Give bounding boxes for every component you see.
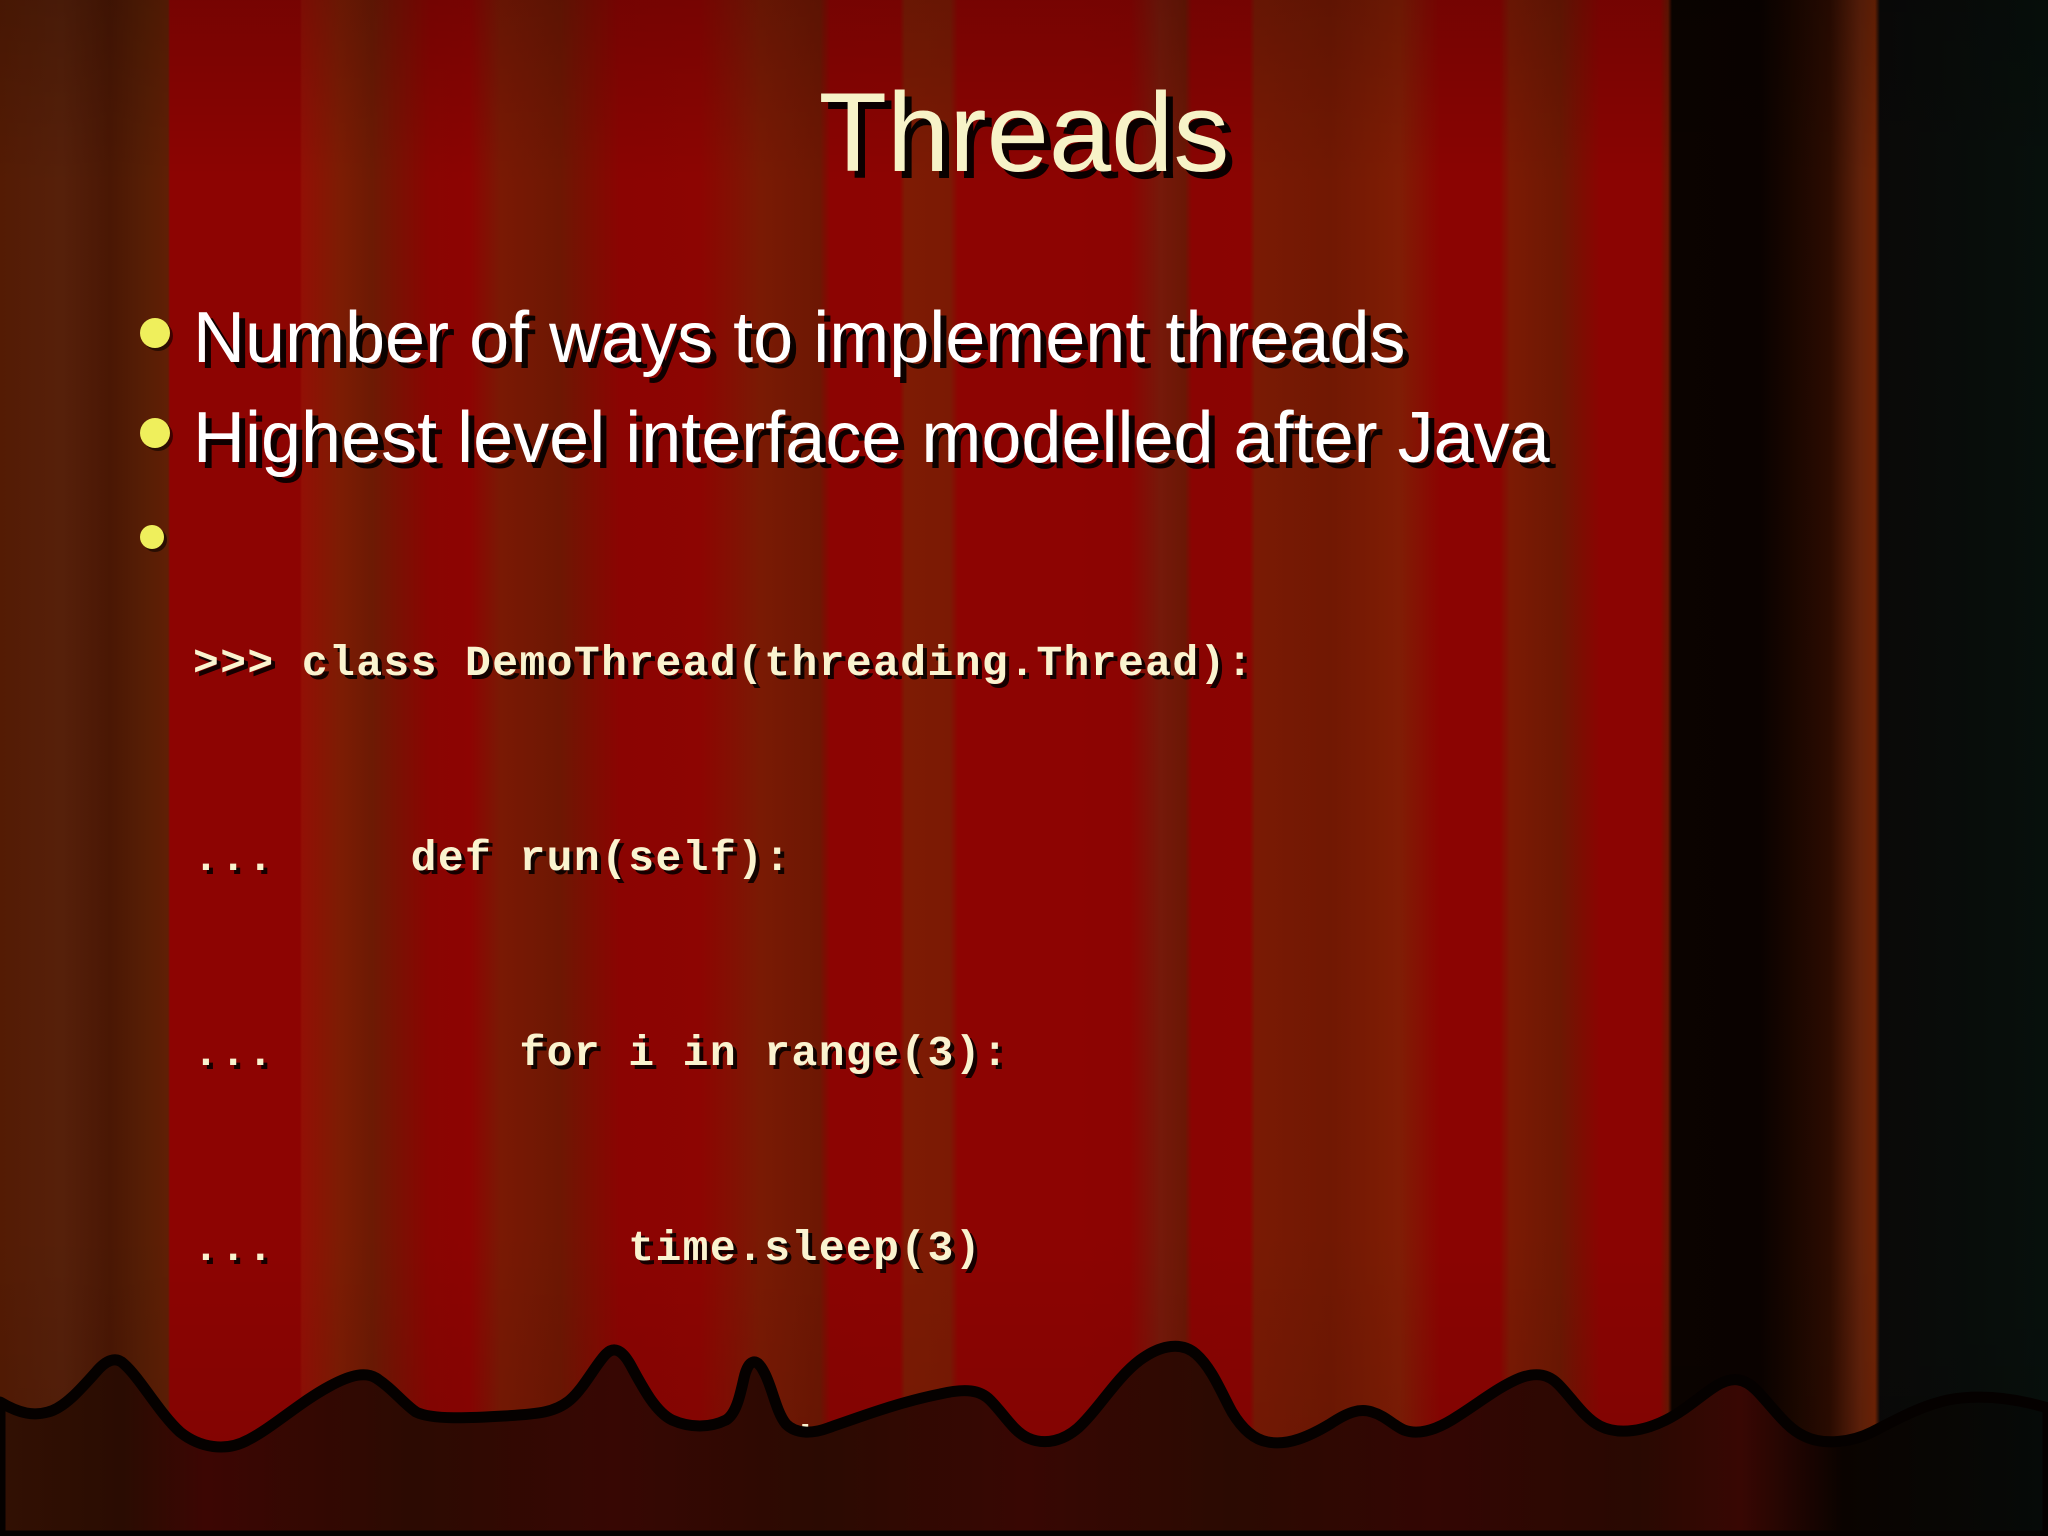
bullet-text-ways: Number of ways to implement threads [193, 292, 1406, 386]
bullet-dot-icon [140, 525, 164, 549]
bullet-item-ways: Number of ways to implement threads [140, 292, 1840, 386]
presentation-slide: Threads Number of ways to implement thre… [0, 0, 2048, 1536]
bullet-dot-icon [140, 418, 170, 448]
bullet-text-java: Highest level interface modelled after J… [193, 392, 1550, 486]
code-line: ... print i [193, 1411, 1254, 1476]
code-block: >>> class DemoThread(threading.Thread): … [193, 501, 1254, 1536]
slide-title: Threads [0, 74, 2048, 192]
bullet-dot-icon [140, 318, 170, 348]
slide-body: Number of ways to implement threads High… [140, 292, 1840, 1536]
code-line: ... def run(self): [193, 826, 1254, 891]
code-line: ... time.sleep(3) [193, 1216, 1254, 1281]
bullet-item-java: Highest level interface modelled after J… [140, 392, 1840, 486]
code-bullet-item: >>> class DemoThread(threading.Thread): … [140, 501, 1840, 1536]
code-line: >>> class DemoThread(threading.Thread): [193, 631, 1254, 696]
code-line: ... for i in range(3): [193, 1021, 1254, 1086]
